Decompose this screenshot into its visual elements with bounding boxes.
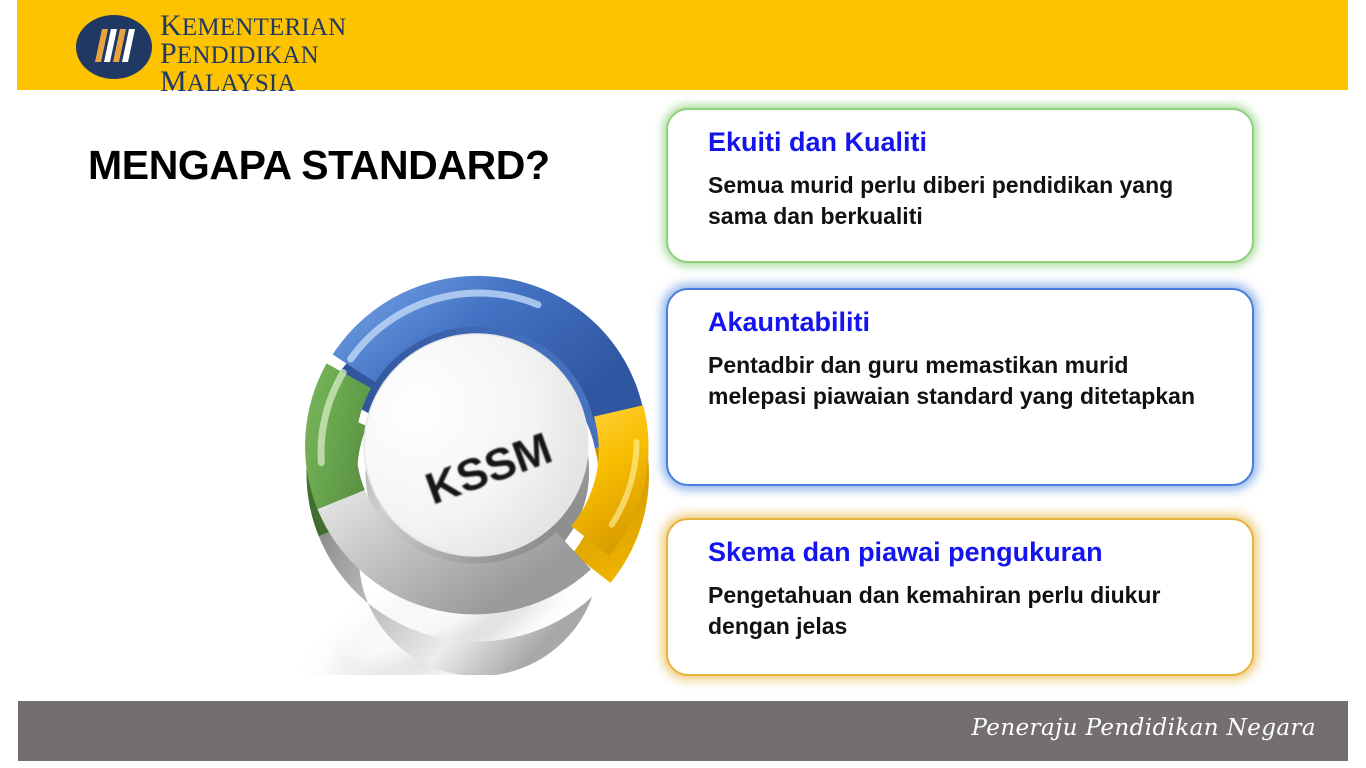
callout-card-accountability[interactable]: Akauntabiliti Pentadbir dan guru memasti… bbox=[666, 288, 1254, 486]
footer-tagline: Peneraju Pendidikan Negara bbox=[971, 715, 1316, 741]
logo-line-2: PENDIDIKAN bbox=[160, 40, 346, 68]
ministry-logo-group: KEMENTERIAN PENDIDIKAN MALAYSIA bbox=[75, 8, 375, 84]
presentation-slide: KEMENTERIAN PENDIDIKAN MALAYSIA MENGAPA … bbox=[0, 0, 1366, 768]
callout-card-scheme[interactable]: Skema dan piawai pengukuran Pengetahuan … bbox=[666, 518, 1254, 676]
header-band: KEMENTERIAN PENDIDIKAN MALAYSIA bbox=[17, 0, 1348, 90]
kssm-3d-donut-diagram: KSSM bbox=[278, 225, 678, 675]
callout-body-scheme: Pengetahuan dan kemahiran perlu diukur d… bbox=[708, 580, 1226, 643]
logo-line-3-cap: M bbox=[160, 65, 187, 98]
kssm-diagram: KSSM bbox=[278, 225, 678, 675]
footer-band: Peneraju Pendidikan Negara bbox=[18, 701, 1348, 761]
callout-heading-accountability: Akauntabiliti bbox=[708, 308, 1226, 338]
callout-body-accountability: Pentadbir dan guru memastikan murid mele… bbox=[708, 350, 1226, 413]
logo-line-1: KEMENTERIAN bbox=[160, 12, 346, 40]
callout-heading-equity: Ekuiti dan Kualiti bbox=[708, 128, 1226, 158]
kpm-ministry-logo-icon bbox=[75, 14, 153, 80]
callout-body-equity: Semua murid perlu diberi pendidikan yang… bbox=[708, 170, 1226, 233]
logo-line-3: MALAYSIA bbox=[160, 68, 346, 96]
logo-line-2-rest: ENDIDIKAN bbox=[177, 42, 319, 69]
callout-card-equity[interactable]: Ekuiti dan Kualiti Semua murid perlu dib… bbox=[666, 108, 1254, 263]
ministry-logo-text: KEMENTERIAN PENDIDIKAN MALAYSIA bbox=[160, 12, 346, 96]
page-title: MENGAPA STANDARD? bbox=[88, 142, 550, 189]
logo-line-1-rest: EMENTERIAN bbox=[182, 14, 346, 41]
logo-line-3-rest: ALAYSIA bbox=[187, 70, 296, 97]
callout-heading-scheme: Skema dan piawai pengukuran bbox=[708, 538, 1226, 568]
